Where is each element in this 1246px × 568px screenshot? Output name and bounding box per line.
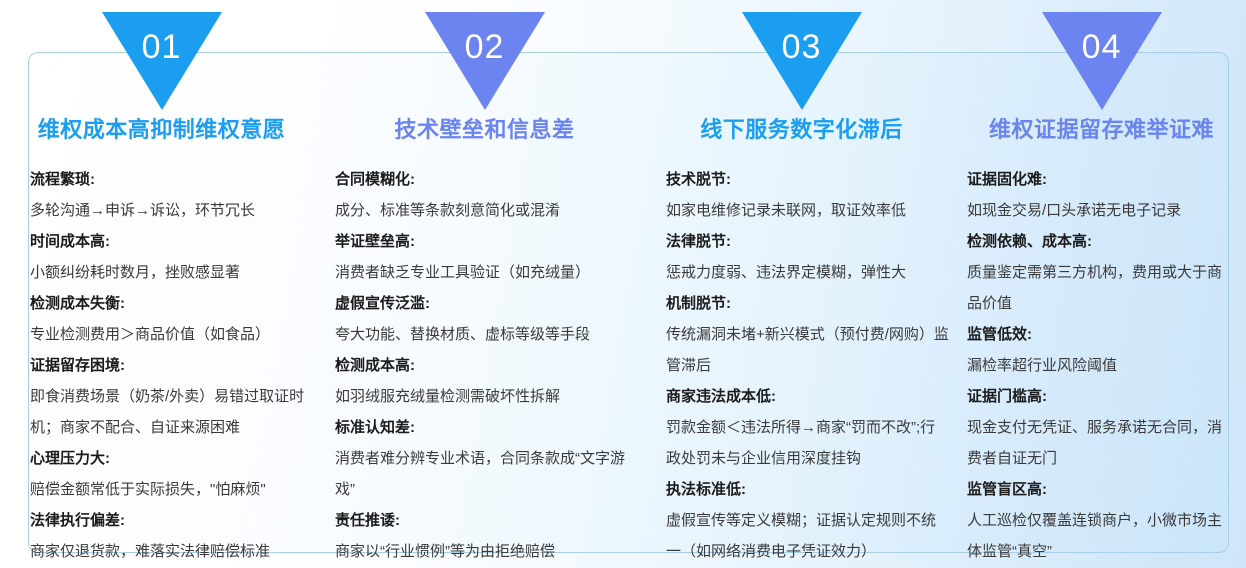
item-term: 检测成本高:: [335, 350, 638, 381]
list-item: 时间成本高: 小额纠纷耗时数月，挫败感显著: [30, 226, 315, 288]
item-desc: 夸大功能、替换材质、虚标等级等手段: [335, 319, 638, 350]
item-term: 流程繁琐:: [30, 164, 315, 195]
list-item: 合同模糊化: 成分、标准等条款刻意简化或混淆: [335, 164, 638, 226]
column-title-3: 线下服务数字化滞后: [646, 112, 957, 144]
list-item: 法律脱节: 惩戒力度弱、违法界定模糊，弹性大: [666, 226, 949, 288]
item-term: 虚假宣传泛滥:: [335, 288, 638, 319]
item-desc: 罚款金额＜违法所得→商家“罚而不改”;行政处罚未与企业信用深度挂钩: [666, 412, 949, 474]
item-term: 标准认知差:: [335, 412, 638, 443]
list-item: 技术脱节: 如家电维修记录未联网，取证效率低: [666, 164, 949, 226]
item-term: 法律脱节:: [666, 226, 949, 257]
list-item: 责任推诿: 商家以“行业惯例”等为由拒绝赔偿: [335, 505, 638, 567]
item-term: 证据留存困境:: [30, 350, 315, 381]
item-term: 时间成本高:: [30, 226, 315, 257]
item-term: 监管低效:: [967, 319, 1232, 350]
item-term: 技术脱节:: [666, 164, 949, 195]
column-marker-1: 01: [102, 12, 222, 110]
column-body-3: 技术脱节: 如家电维修记录未联网，取证效率低 法律脱节: 惩戒力度弱、违法界定模…: [646, 164, 957, 567]
item-desc: 消费者难分辨专业术语，合同条款成“文字游戏”: [335, 443, 638, 505]
item-term: 法律执行偏差:: [30, 505, 315, 536]
item-desc: 现金支付无凭证、服务承诺无合同，消费者自证无门: [967, 412, 1232, 474]
list-item: 举证壁垒高: 消费者缺乏专业工具验证（如充绒量）: [335, 226, 638, 288]
column-body-2: 合同模糊化: 成分、标准等条款刻意简化或混淆 举证壁垒高: 消费者缺乏专业工具验…: [323, 164, 646, 567]
list-item: 机制脱节: 传统漏洞未堵+新兴模式（预付费/网购）监管滞后: [666, 288, 949, 381]
infographic-columns: 01 维权成本高抑制维权意愿 流程繁琐: 多轮沟通→申诉→诉讼，环节冗长 时间成…: [0, 0, 1246, 568]
column-title-1: 维权成本高抑制维权意愿: [0, 112, 323, 144]
item-term: 执法标准低:: [666, 474, 949, 505]
column-marker-2: 02: [425, 12, 545, 110]
item-desc: 惩戒力度弱、违法界定模糊，弹性大: [666, 257, 949, 288]
list-item: 心理压力大: 赔偿金额常低于实际损失，"怕麻烦": [30, 443, 315, 505]
item-desc: 小额纠纷耗时数月，挫败感显著: [30, 257, 315, 288]
column-marker-3: 03: [742, 12, 862, 110]
item-term: 心理压力大:: [30, 443, 315, 474]
list-item: 执法标准低: 虚假宣传等定义模糊；证据认定规则不统一（如网络消费电子凭证效力）: [666, 474, 949, 567]
list-item: 证据门槛高: 现金支付无凭证、服务承诺无合同，消费者自证无门: [967, 381, 1232, 474]
column-title-4: 维权证据留存难举证难: [957, 112, 1246, 144]
infographic-column-2: 02 技术壁垒和信息差 合同模糊化: 成分、标准等条款刻意简化或混淆 举证壁垒高…: [323, 0, 646, 568]
column-number-4: 04: [1042, 30, 1162, 64]
infographic-column-4: 04 维权证据留存难举证难 证据固化难: 如现金交易/口头承诺无电子记录 检测依…: [957, 0, 1246, 568]
item-term: 证据固化难:: [967, 164, 1232, 195]
item-desc: 如羽绒服充绒量检测需破坏性拆解: [335, 381, 638, 412]
list-item: 证据留存困境: 即食消费场景（奶茶/外卖）易错过取证时机；商家不配合、自证来源困…: [30, 350, 315, 443]
list-item: 检测成本高: 如羽绒服充绒量检测需破坏性拆解: [335, 350, 638, 412]
column-number-1: 01: [102, 30, 222, 64]
item-term: 举证壁垒高:: [335, 226, 638, 257]
item-desc: 消费者缺乏专业工具验证（如充绒量）: [335, 257, 638, 288]
list-item: 商家违法成本低: 罚款金额＜违法所得→商家“罚而不改”;行政处罚未与企业信用深度…: [666, 381, 949, 474]
item-term: 证据门槛高:: [967, 381, 1232, 412]
item-term: 机制脱节:: [666, 288, 949, 319]
item-term: 合同模糊化:: [335, 164, 638, 195]
item-desc: 如现金交易/口头承诺无电子记录: [967, 195, 1232, 226]
column-title-2: 技术壁垒和信息差: [323, 112, 646, 144]
list-item: 流程繁琐: 多轮沟通→申诉→诉讼，环节冗长: [30, 164, 315, 226]
list-item: 标准认知差: 消费者难分辨专业术语，合同条款成“文字游戏”: [335, 412, 638, 505]
list-item: 检测依赖、成本高: 质量鉴定需第三方机构，费用或大于商品价值: [967, 226, 1232, 319]
item-term: 检测成本失衡:: [30, 288, 315, 319]
item-desc: 多轮沟通→申诉→诉讼，环节冗长: [30, 195, 315, 226]
infographic-column-3: 03 线下服务数字化滞后 技术脱节: 如家电维修记录未联网，取证效率低 法律脱节…: [646, 0, 957, 568]
item-term: 责任推诿:: [335, 505, 638, 536]
list-item: 监管低效: 漏检率超行业风险阈值: [967, 319, 1232, 381]
item-desc: 人工巡检仅覆盖连锁商户，小微市场主体监管“真空”: [967, 505, 1232, 567]
item-desc: 质量鉴定需第三方机构，费用或大于商品价值: [967, 257, 1232, 319]
list-item: 监管盲区高: 人工巡检仅覆盖连锁商户，小微市场主体监管“真空”: [967, 474, 1232, 567]
column-number-3: 03: [742, 30, 862, 64]
item-desc: 商家仅退货款，难落实法律赔偿标准: [30, 536, 315, 567]
item-desc: 专业检测费用＞商品价值（如食品）: [30, 319, 315, 350]
item-desc: 虚假宣传等定义模糊；证据认定规则不统一（如网络消费电子凭证效力）: [666, 505, 949, 567]
column-marker-4: 04: [1042, 12, 1162, 110]
item-desc: 赔偿金额常低于实际损失，"怕麻烦": [30, 474, 315, 505]
item-term: 监管盲区高:: [967, 474, 1232, 505]
item-desc: 成分、标准等条款刻意简化或混淆: [335, 195, 638, 226]
infographic-column-1: 01 维权成本高抑制维权意愿 流程繁琐: 多轮沟通→申诉→诉讼，环节冗长 时间成…: [0, 0, 323, 568]
list-item: 检测成本失衡: 专业检测费用＞商品价值（如食品）: [30, 288, 315, 350]
item-desc: 如家电维修记录未联网，取证效率低: [666, 195, 949, 226]
item-desc: 传统漏洞未堵+新兴模式（预付费/网购）监管滞后: [666, 319, 949, 381]
column-number-2: 02: [425, 30, 545, 64]
column-body-1: 流程繁琐: 多轮沟通→申诉→诉讼，环节冗长 时间成本高: 小额纠纷耗时数月，挫败…: [0, 164, 323, 567]
list-item: 法律执行偏差: 商家仅退货款，难落实法律赔偿标准: [30, 505, 315, 567]
column-body-4: 证据固化难: 如现金交易/口头承诺无电子记录 检测依赖、成本高: 质量鉴定需第三…: [957, 164, 1246, 567]
item-term: 商家违法成本低:: [666, 381, 949, 412]
item-desc: 即食消费场景（奶茶/外卖）易错过取证时机；商家不配合、自证来源困难: [30, 381, 315, 443]
item-desc: 商家以“行业惯例”等为由拒绝赔偿: [335, 536, 638, 567]
list-item: 证据固化难: 如现金交易/口头承诺无电子记录: [967, 164, 1232, 226]
item-desc: 漏检率超行业风险阈值: [967, 350, 1232, 381]
list-item: 虚假宣传泛滥: 夸大功能、替换材质、虚标等级等手段: [335, 288, 638, 350]
item-term: 检测依赖、成本高:: [967, 226, 1232, 257]
